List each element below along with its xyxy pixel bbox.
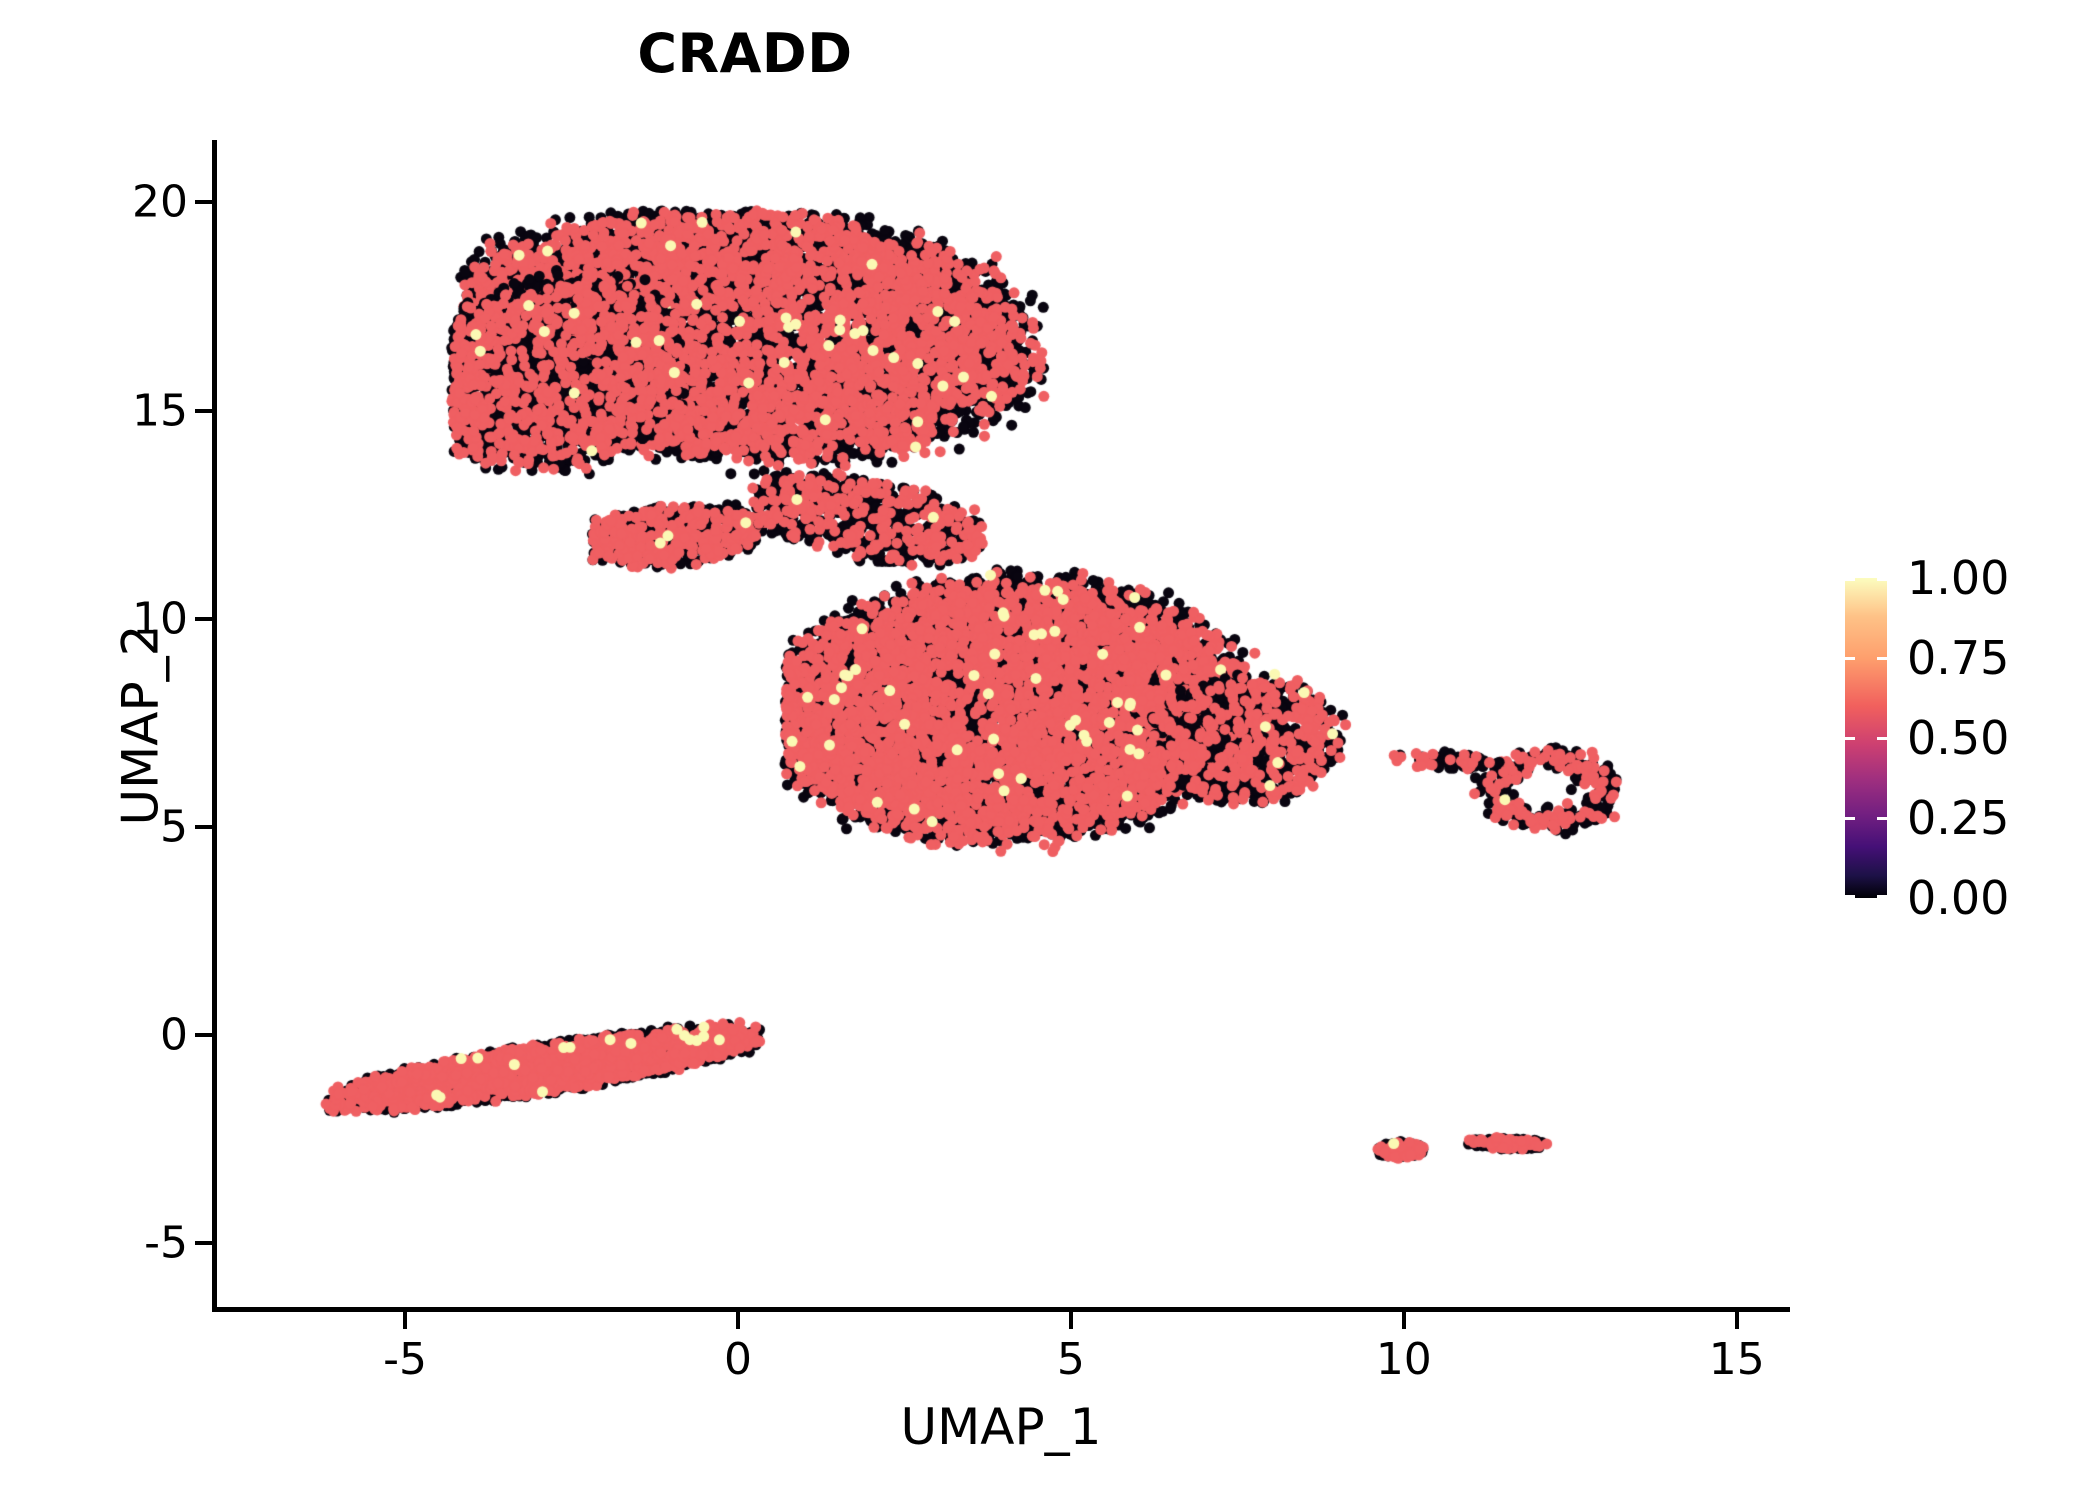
x-axis-label: UMAP_1 (212, 1398, 1790, 1456)
colorbar-label-0: 1.00 (1907, 551, 2009, 605)
y-tick-mark-0 (195, 1241, 212, 1245)
colorbar-tick-mark-2 (1877, 737, 1887, 740)
colorbar-tick-mark-3 (1877, 817, 1887, 820)
y-tick-mark-4 (195, 409, 212, 413)
y-tick-label-0: -5 (144, 1218, 188, 1269)
x-tick-mark-1 (736, 1312, 740, 1329)
x-tick-mark-4 (1735, 1312, 1739, 1329)
colorbar-label-3: 0.25 (1907, 791, 2009, 845)
y-tick-mark-5 (195, 200, 212, 204)
x-tick-label-4: 15 (1709, 1334, 1765, 1385)
x-axis-spine (212, 1307, 1790, 1312)
y-tick-label-1: 0 (160, 1010, 188, 1061)
colorbar-tick-mark-2 (1845, 737, 1855, 740)
colorbar-tick-mark-3 (1845, 817, 1855, 820)
x-tick-mark-3 (1402, 1312, 1406, 1329)
y-tick-label-5: 20 (132, 177, 188, 228)
plot-area: -5051015 -505101520 UMAP_1 UMAP_2 (212, 140, 1790, 1310)
scatter-plot (212, 140, 1790, 1310)
x-tick-label-1: 0 (724, 1334, 752, 1385)
y-tick-mark-3 (195, 617, 212, 621)
colorbar-tick-mark-1 (1877, 657, 1887, 660)
colorbar-tick-mark-0 (1845, 578, 1855, 581)
colorbar-tick-mark-4 (1877, 895, 1887, 898)
y-tick-label-4: 15 (132, 385, 188, 436)
x-tick-label-3: 10 (1376, 1334, 1432, 1385)
page-title: CRADD (210, 22, 1280, 85)
y-tick-mark-1 (195, 1033, 212, 1037)
colorbar: 1.000.750.500.250.00 (1845, 578, 2075, 900)
x-tick-label-0: -5 (383, 1334, 427, 1385)
colorbar-label-2: 0.50 (1907, 711, 2009, 765)
colorbar-tick-mark-0 (1877, 578, 1887, 581)
colorbar-label-1: 0.75 (1907, 631, 2009, 685)
figure-canvas: CRADD -5051015 -505101520 UMAP_1 UMAP_2 … (0, 0, 2100, 1500)
y-axis-spine (212, 140, 217, 1312)
colorbar-tick-mark-4 (1845, 895, 1855, 898)
x-tick-label-2: 5 (1057, 1334, 1085, 1385)
colorbar-tick-mark-1 (1845, 657, 1855, 660)
x-tick-mark-0 (403, 1312, 407, 1329)
x-tick-mark-2 (1069, 1312, 1073, 1329)
y-axis-label: UMAP_2 (111, 625, 169, 826)
y-tick-mark-2 (195, 825, 212, 829)
colorbar-label-4: 0.00 (1907, 871, 2009, 925)
